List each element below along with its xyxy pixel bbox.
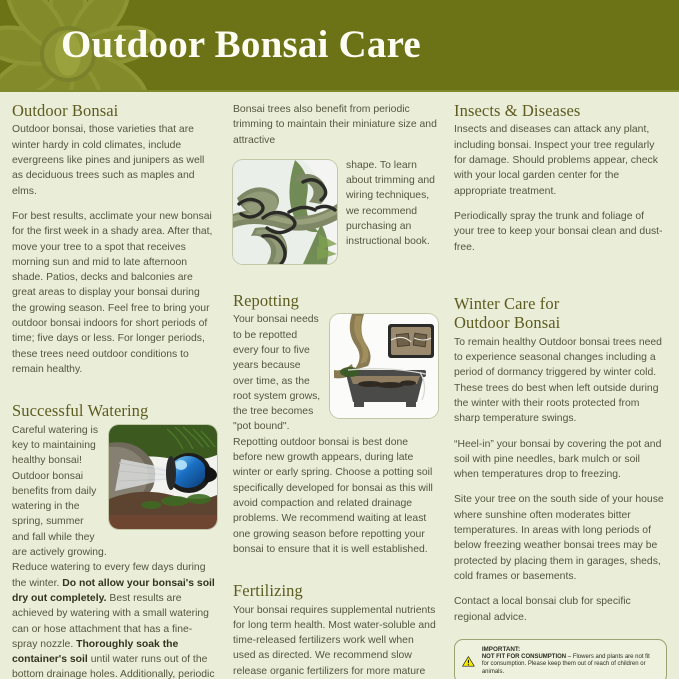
section-heading-winter-care-line2: Outdoor Bonsai bbox=[454, 314, 667, 332]
repotting-pot-photo bbox=[330, 314, 438, 418]
column-middle: Bonsai trees also benefit from periodic … bbox=[233, 102, 438, 679]
paragraph: For best results, acclimate your new bon… bbox=[12, 209, 217, 377]
poster-page: Outdoor Bonsai Care Outdoor Bonsai Outdo… bbox=[0, 0, 679, 679]
warning-separator: – bbox=[566, 654, 573, 660]
paragraph: Site your tree on the south side of your… bbox=[454, 492, 667, 584]
warning-triangle-icon bbox=[462, 650, 475, 673]
watering-nozzle-photo bbox=[109, 425, 217, 529]
paragraph: “Heel-in” your bonsai by covering the po… bbox=[454, 437, 667, 483]
page-title: Outdoor Bonsai Care bbox=[61, 22, 421, 67]
section-heading-outdoor-bonsai: Outdoor Bonsai bbox=[12, 102, 217, 120]
paragraph: Bonsai trees also benefit from periodic … bbox=[233, 102, 438, 148]
warning-box: IMPORTANT:NOT FIT FOR CONSUMPTION – Flow… bbox=[454, 639, 667, 679]
column-left: Outdoor Bonsai Outdoor bonsai, those var… bbox=[12, 102, 217, 679]
section-heading-fertilizing: Fertilizing bbox=[233, 582, 438, 600]
section-heading-winter-care-line1: Winter Care for bbox=[454, 295, 667, 313]
paragraph: Your bonsai requires supplemental nutrie… bbox=[233, 603, 438, 679]
paragraph-watering-detail: Reduce watering to every few days during… bbox=[12, 560, 217, 679]
paragraph: Contact a local bonsai club for specific… bbox=[454, 594, 667, 625]
page-header: Outdoor Bonsai Care bbox=[0, 0, 679, 92]
paragraph: Insects and diseases can attack any plan… bbox=[454, 122, 667, 198]
paragraph: Periodically spray the trunk and foliage… bbox=[454, 209, 667, 255]
paragraph: before new growth appears, during late w… bbox=[233, 450, 438, 557]
section-heading-repotting: Repotting bbox=[233, 292, 438, 310]
column-right: Insects & Diseases Insects and diseases … bbox=[454, 102, 667, 679]
wired-branch-photo bbox=[233, 160, 337, 264]
warning-text: IMPORTANT:NOT FIT FOR CONSUMPTION – Flow… bbox=[482, 646, 658, 677]
warning-headline: NOT FIT FOR CONSUMPTION bbox=[482, 654, 566, 660]
paragraph: Outdoor bonsai, those varieties that are… bbox=[12, 122, 217, 198]
section-heading-insects-diseases: Insects & Diseases bbox=[454, 102, 667, 120]
paragraph: To remain healthy Outdoor bonsai trees n… bbox=[454, 335, 667, 427]
warning-label: IMPORTANT: bbox=[482, 646, 658, 654]
content-area: Outdoor Bonsai Outdoor bonsai, those var… bbox=[0, 92, 679, 679]
section-heading-successful-watering: Successful Watering bbox=[12, 402, 217, 420]
